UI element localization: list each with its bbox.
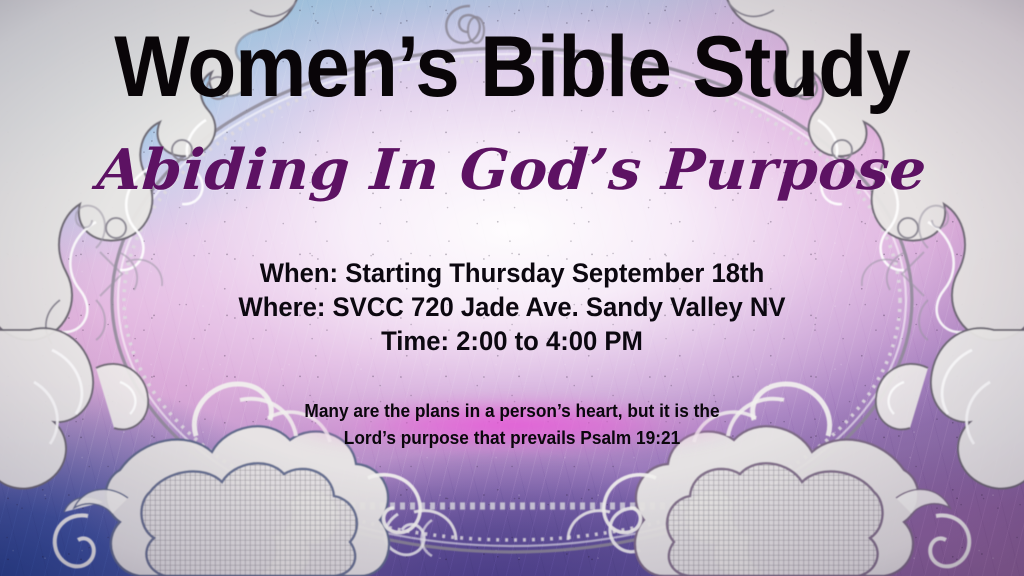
detail-time: Time: 2:00 to 4:00 PM (26, 324, 999, 358)
flyer-content: Women’s Bible Study Abiding In God’s Pur… (0, 0, 1024, 576)
verse-line-1: Many are the plans in a person’s heart, … (20, 398, 1003, 425)
detail-where: Where: SVCC 720 Jade Ave. Sandy Valley N… (26, 290, 999, 324)
page-title: Women’s Bible Study (36, 24, 988, 110)
flyer-subtitle: Abiding In God’s Purpose (0, 142, 1024, 198)
verse-line-2: Lord’s purpose that prevails Psalm 19:21 (20, 425, 1003, 452)
detail-when: When: Starting Thursday September 18th (26, 256, 999, 290)
womens-bible-study-flyer: Women’s Bible Study Abiding In God’s Pur… (0, 0, 1024, 576)
scripture-verse: Many are the plans in a person’s heart, … (0, 398, 1024, 452)
event-details: When: Starting Thursday September 18th W… (0, 256, 1024, 358)
